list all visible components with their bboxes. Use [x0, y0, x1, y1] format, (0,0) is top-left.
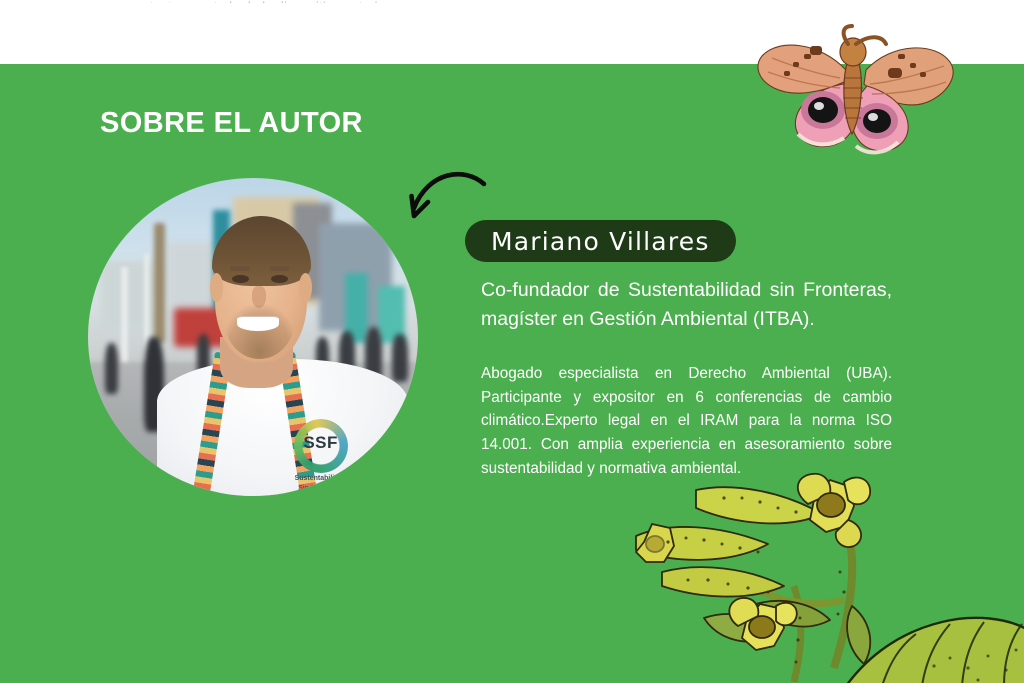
author-photo: SSF Sustentabilidad Sin Fronteras	[88, 178, 418, 496]
photo-smile	[237, 316, 280, 331]
photo-crowd-person	[392, 334, 409, 382]
ssf-logo: SSF Sustentabilidad Sin Fronteras	[283, 426, 359, 486]
photo-eye	[232, 275, 249, 283]
author-lead-paragraph: Co-fundador de Sustentabilidad sin Front…	[481, 276, 892, 334]
photo-palm-tree	[154, 223, 165, 344]
photo-eyebrow	[270, 266, 290, 270]
author-bio-paragraph: Abogado especialista en Derecho Ambienta…	[481, 362, 892, 481]
ssf-org-line2: Sin Fronteras	[298, 485, 343, 493]
ssf-org-line1: Sustentabilidad	[295, 475, 347, 483]
photo-crowd-person	[105, 343, 118, 394]
page-title: SOBRE EL AUTOR	[100, 107, 363, 140]
photo-pole	[121, 267, 128, 369]
photo-building	[101, 261, 160, 331]
curved-arrow-icon	[398, 168, 488, 230]
slide-canvas: texto recortado de la diapositiva anteri…	[0, 0, 1024, 683]
moth-illustration	[748, 22, 964, 170]
photo-eyebrow	[230, 266, 250, 270]
author-name-badge: Mariano Villares	[465, 220, 736, 262]
ssf-acronym: SSF	[294, 433, 348, 453]
leaf-illustration	[838, 596, 1024, 683]
cutoff-text-sliver: texto recortado de la diapositiva anteri…	[0, 0, 1024, 3]
